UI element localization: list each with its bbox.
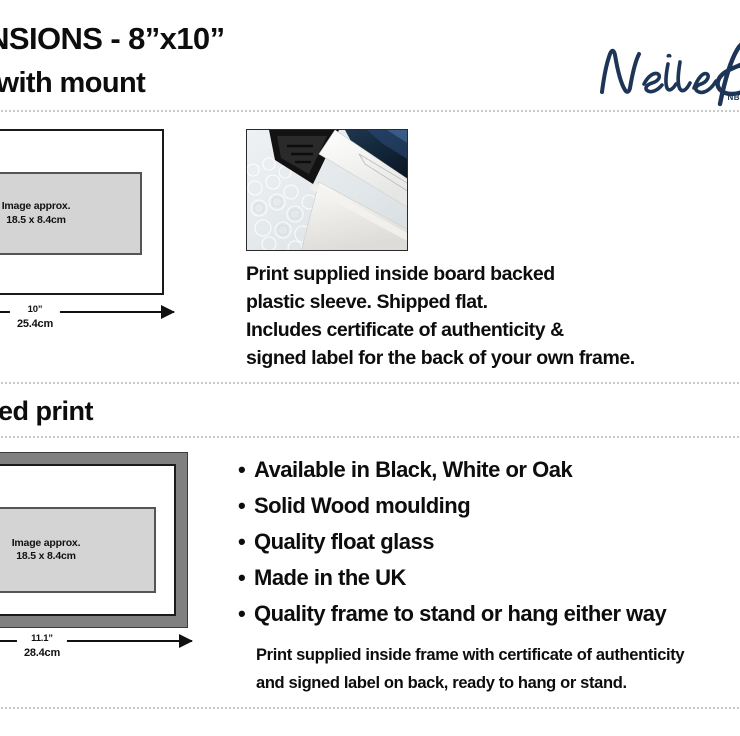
list-item: Quality frame to stand or hang either wa… bbox=[238, 596, 740, 632]
logo-initials: NB bbox=[727, 93, 740, 102]
frame-description: Print supplied inside frame with certifi… bbox=[256, 641, 740, 697]
arrow-right-icon bbox=[161, 305, 175, 319]
list-item: Solid Wood moulding bbox=[238, 488, 740, 524]
mount-diagram: Image approx. 18.5 x 8.4cm bbox=[0, 129, 164, 295]
mount-description-line-4: signed label for the back of your own fr… bbox=[246, 344, 740, 372]
frame-feature-list: Available in Black, White or Oak Solid W… bbox=[238, 452, 740, 632]
frame-image-label-line2: 18.5 x 8.4cm bbox=[16, 550, 75, 563]
arrow-right-icon bbox=[179, 634, 193, 648]
dimension-labels: 10” 25.4cm bbox=[10, 303, 60, 332]
frame-mat: Image approx. 18.5 x 8.4cm bbox=[0, 464, 176, 616]
brand-logo-signature-icon: NB bbox=[594, 38, 740, 110]
frame-description-line-1: Print supplied inside frame with certifi… bbox=[256, 641, 740, 669]
mount-description: Print supplied inside board backed plast… bbox=[246, 260, 740, 372]
framed-print-diagram: Image approx. 18.5 x 8.4cm bbox=[0, 452, 188, 628]
mount-width-cm: 25.4cm bbox=[17, 317, 53, 332]
mount-description-line-3: Includes certificate of authenticity & bbox=[246, 316, 740, 344]
list-item: Quality float glass bbox=[238, 524, 740, 560]
dimensions-info-page: DIMENSIONS - 8”x10” Print with mount NB bbox=[0, 0, 740, 736]
divider-footer bbox=[0, 707, 740, 709]
dimension-labels: 11.1” 28.4cm bbox=[17, 632, 67, 661]
page-title-line2: Print with mount bbox=[0, 67, 145, 100]
page-title-line1: DIMENSIONS - 8”x10” bbox=[0, 21, 224, 57]
page-header: DIMENSIONS - 8”x10” Print with mount NB bbox=[0, 0, 740, 108]
mount-width-inches: 10” bbox=[17, 303, 53, 317]
mount-image-label-line2: 18.5 x 8.4cm bbox=[6, 214, 65, 227]
mount-image-area: Image approx. 18.5 x 8.4cm bbox=[0, 172, 142, 255]
list-item: Available in Black, White or Oak bbox=[238, 452, 740, 488]
section-title-framed-print: Framed print bbox=[0, 396, 93, 427]
mount-description-line-2: plastic sleeve. Shipped flat. bbox=[246, 288, 740, 316]
frame-width-inches: 11.1” bbox=[24, 632, 60, 646]
print-in-sleeve-photo bbox=[246, 129, 408, 251]
frame-width-cm: 28.4cm bbox=[24, 646, 60, 661]
divider-section-bottom bbox=[0, 436, 740, 438]
frame-width-dimension: 11.1” 28.4cm bbox=[0, 632, 192, 666]
mount-image-label-line1: Image approx. bbox=[2, 200, 71, 213]
divider-section-top bbox=[0, 382, 740, 384]
frame-image-area: Image approx. 18.5 x 8.4cm bbox=[0, 507, 156, 593]
frame-description-line-2: and signed label on back, ready to hang … bbox=[256, 669, 740, 697]
mount-description-line-1: Print supplied inside board backed bbox=[246, 260, 740, 288]
list-item: Made in the UK bbox=[238, 560, 740, 596]
divider-top bbox=[0, 110, 740, 112]
mount-width-dimension: 10” 25.4cm bbox=[0, 303, 174, 337]
frame-image-label-line1: Image approx. bbox=[12, 537, 81, 550]
